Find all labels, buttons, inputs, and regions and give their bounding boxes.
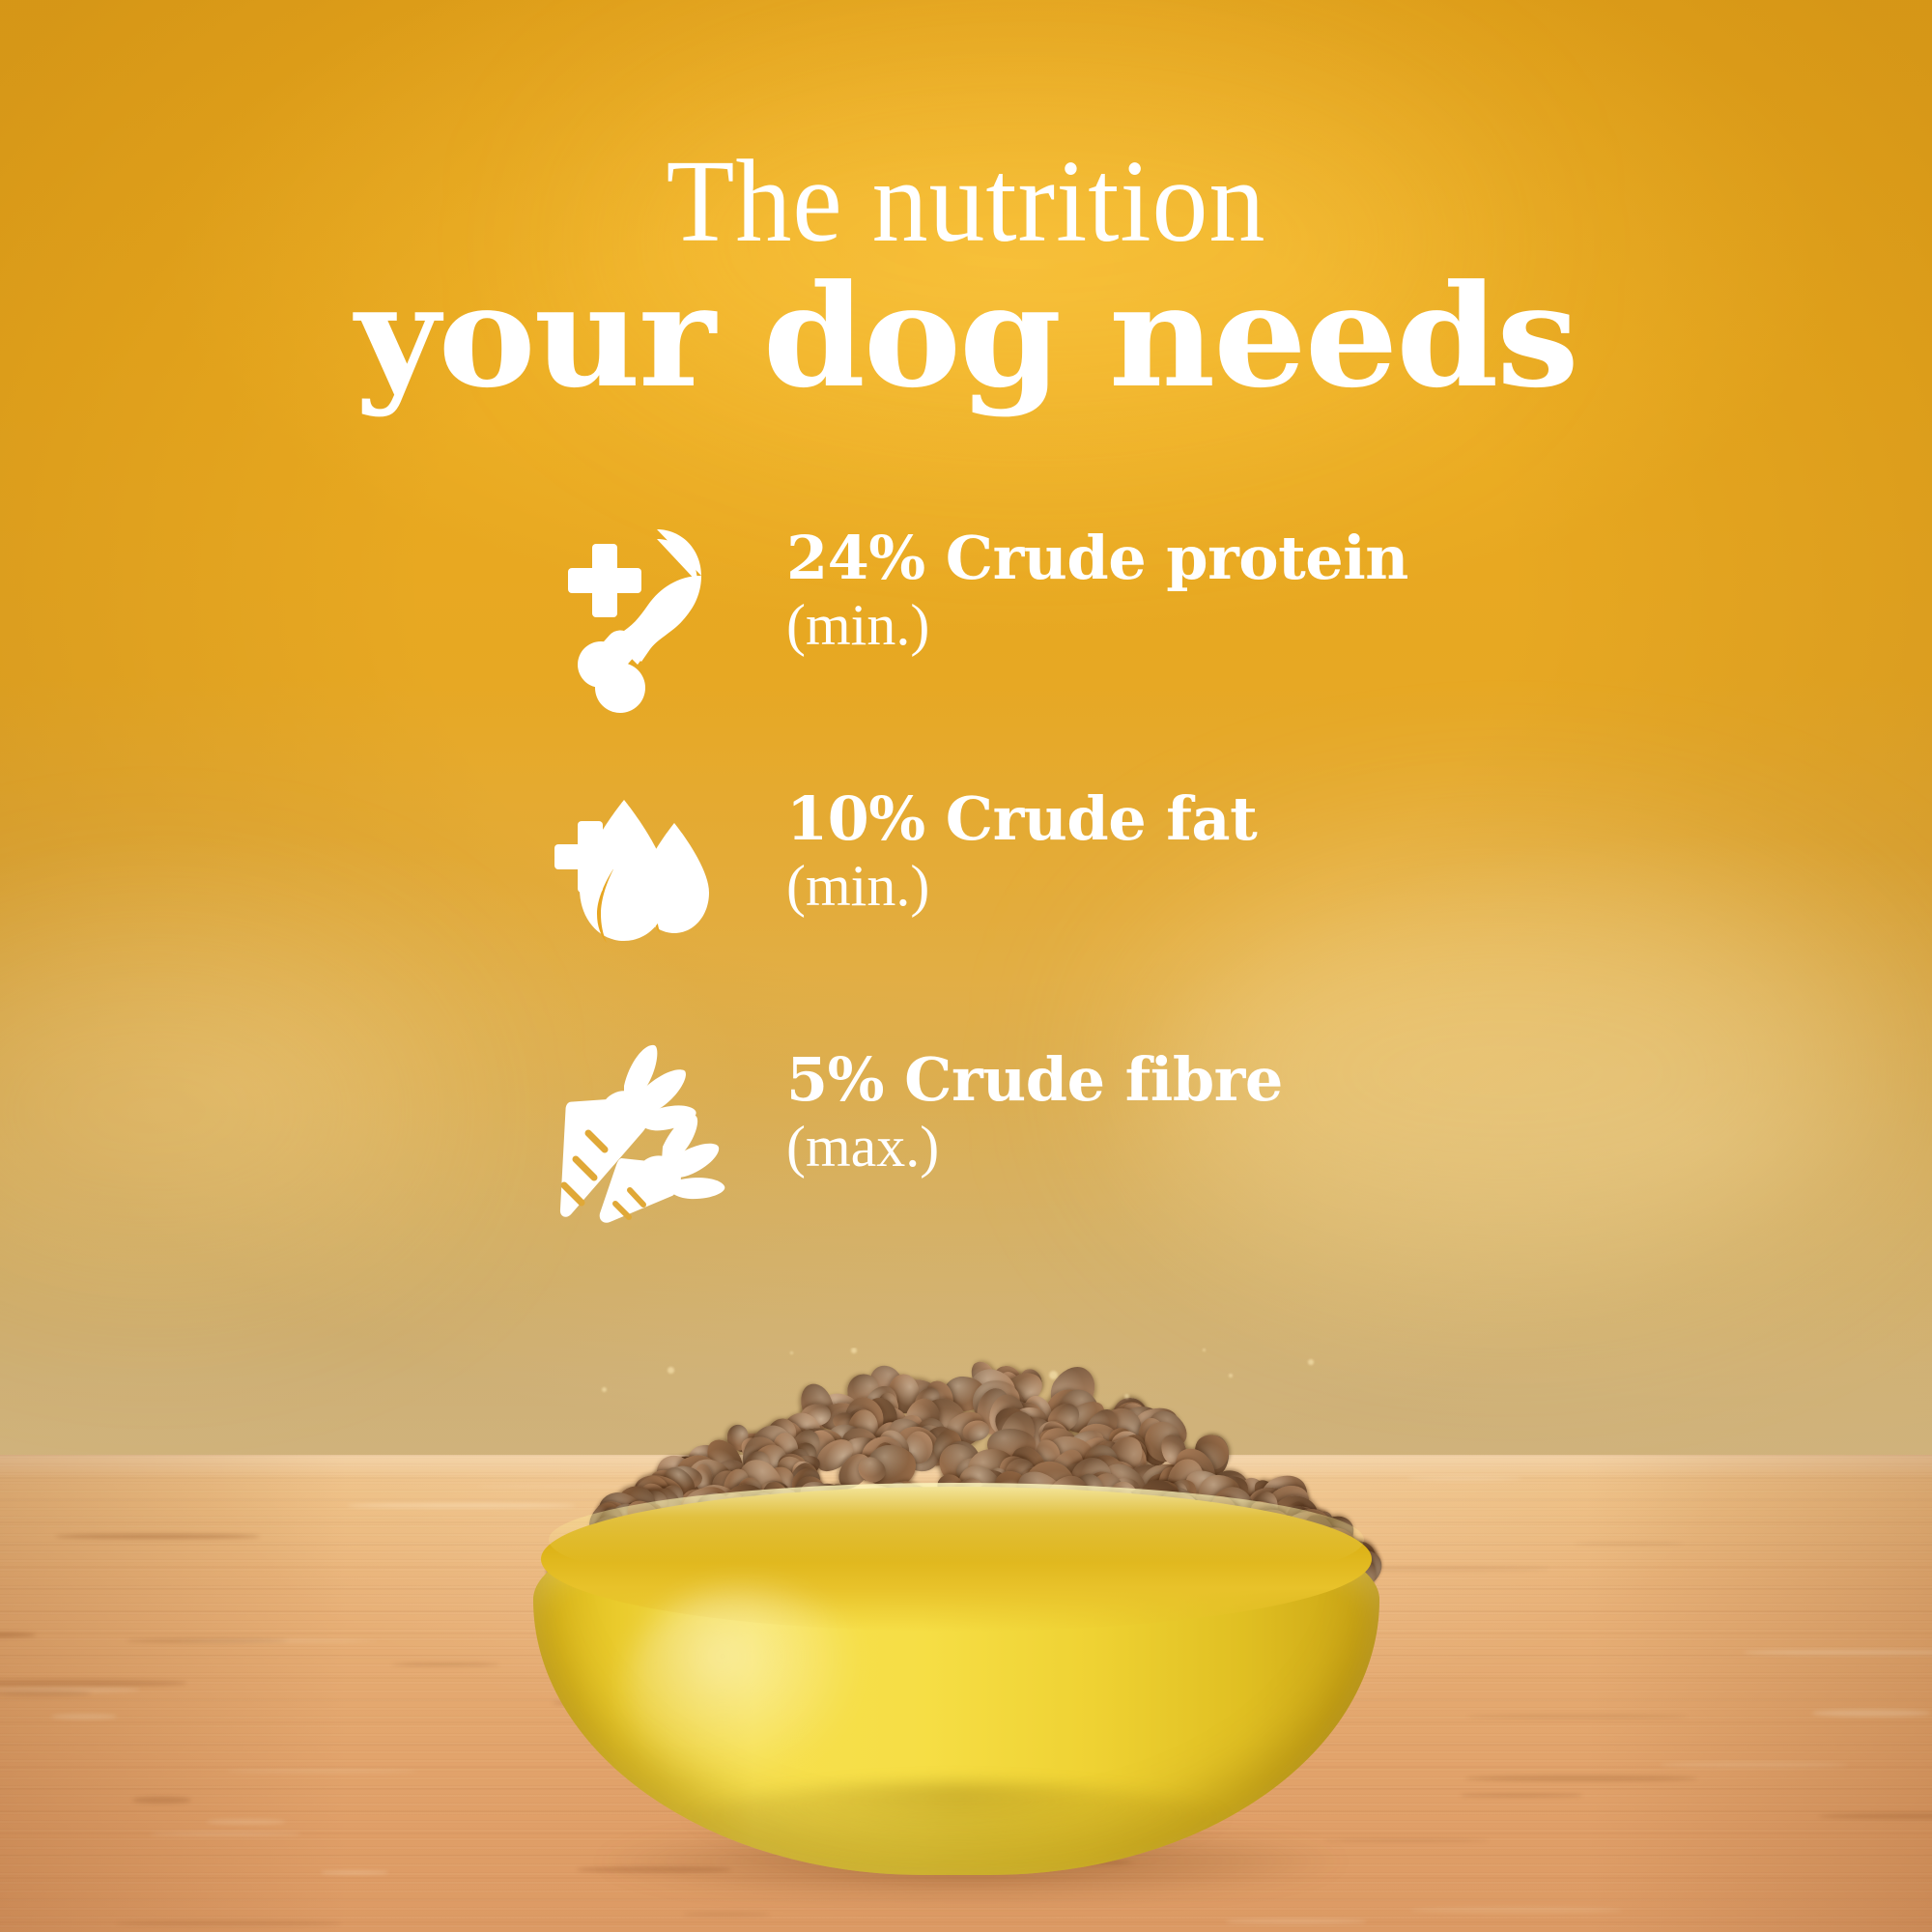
- dust-speck: [1203, 1349, 1206, 1351]
- dust-speck: [1229, 1374, 1233, 1378]
- fact-value-label: 5% Crude fibre: [786, 1049, 1283, 1110]
- drumstick-plus-icon: [541, 522, 734, 715]
- page-title-line2: your dog needs: [0, 267, 1932, 408]
- bowl-rim-highlight: [549, 1483, 1364, 1597]
- dust-speck: [790, 1351, 793, 1354]
- list-item: 10% Crude fat (min.): [541, 782, 1604, 1043]
- list-item: 24% Crude protein (min.): [541, 522, 1604, 782]
- heading-block: The nutrition your dog needs: [0, 0, 1932, 408]
- dog-bowl: [533, 1492, 1379, 1879]
- bowl-gloss: [626, 1585, 867, 1788]
- dust-speck: [602, 1387, 607, 1392]
- fact-value-label: 10% Crude fat: [786, 788, 1257, 849]
- fact-text: 5% Crude fibre (max.): [786, 1043, 1283, 1184]
- page-title-line1: The nutrition: [48, 143, 1884, 261]
- fact-value-label: 24% Crude protein: [786, 527, 1408, 588]
- nutrition-facts-list: 24% Crude protein (min.): [541, 522, 1604, 1304]
- fact-text: 10% Crude fat (min.): [786, 782, 1257, 923]
- dust-speck: [1308, 1359, 1313, 1364]
- droplets-plus-icon: [541, 782, 734, 976]
- fact-qualifier: (min.): [786, 588, 1408, 663]
- fact-qualifier: (max.): [786, 1110, 1283, 1184]
- bowl-base-shading: [668, 1782, 1244, 1879]
- list-item: 5% Crude fibre (max.): [541, 1043, 1604, 1304]
- dust-speck: [668, 1367, 674, 1374]
- dust-speck: [851, 1348, 857, 1353]
- fact-text: 24% Crude protein (min.): [786, 522, 1408, 663]
- carrots-icon: [541, 1043, 734, 1236]
- dust-speck: [1124, 1394, 1129, 1399]
- fact-qualifier: (min.): [786, 849, 1257, 923]
- promo-graphic: The nutrition your dog needs: [0, 0, 1932, 1932]
